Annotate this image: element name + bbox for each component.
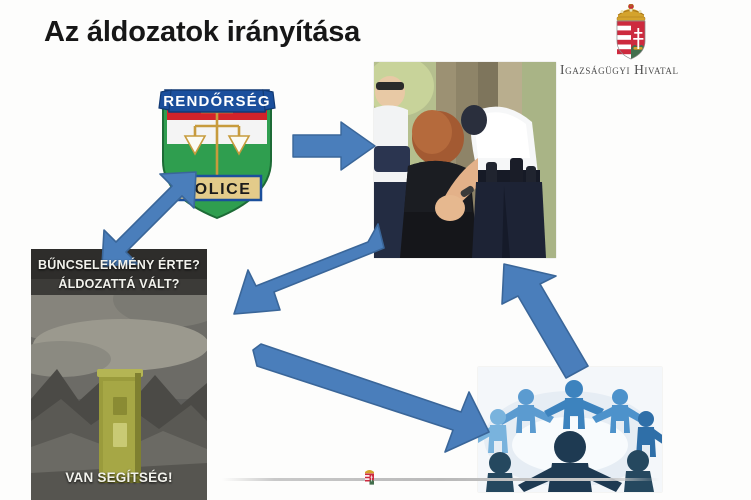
footer-divider xyxy=(222,478,660,481)
arrow-down-left-icon xyxy=(228,218,386,322)
slide-canvas: Az áldozatok irányítása xyxy=(0,0,751,500)
poster-call-to-action: VAN SEGÍTSÉG! xyxy=(31,470,207,485)
arrow-double-diagonal-icon xyxy=(98,168,202,270)
hungarian-coat-of-arms-icon xyxy=(608,4,654,60)
arrow-down-right-icon xyxy=(249,342,493,456)
paper-people-holding-hands-circle-photo xyxy=(478,367,662,492)
hungarian-coat-of-arms-icon xyxy=(363,468,376,485)
arrow-up-left-icon xyxy=(494,258,592,380)
arrow-right-icon xyxy=(291,118,377,174)
organization-name: Igazságügyi Hivatal xyxy=(560,62,679,78)
police-officer-comforting-victim-photo xyxy=(374,62,556,258)
badge-top-label: RENDŐRSÉG xyxy=(163,92,270,110)
victim-support-poster: BŰNCSELEKMÉNY ÉRTE? ÁLDOZATTÁ VÁLT? VAN … xyxy=(31,249,207,500)
poster-headline-1: BŰNCSELEKMÉNY ÉRTE? xyxy=(31,258,207,272)
page-title: Az áldozatok irányítása xyxy=(44,16,360,49)
poster-headline-2: ÁLDOZATTÁ VÁLT? xyxy=(31,277,207,291)
